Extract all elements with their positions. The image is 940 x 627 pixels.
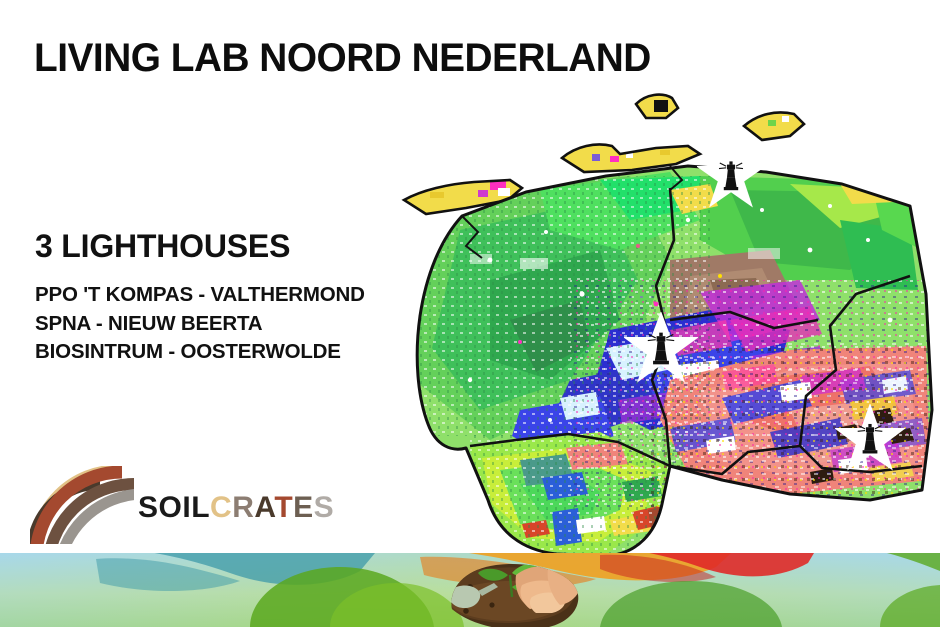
page-title: LIVING LAB NOORD NEDERLAND (34, 36, 651, 81)
footer-graphic (0, 553, 940, 627)
footer-banner: EU MISSIONS SOIL DEAL FOR EUROPE Funded … (0, 553, 940, 627)
logo-letter-0: S (138, 491, 159, 524)
lighthouses-heading: 3 LIGHTHOUSES (35, 228, 290, 265)
logo-letter-6: A (254, 491, 274, 524)
lighthouse-star-marker[interactable] (697, 143, 765, 216)
lighthouses-list: PPO 'T KOMPAS - VALTHERMOND SPNA - NIEUW… (35, 281, 365, 367)
list-item: BIOSINTRUM - OOSTERWOLDE (35, 338, 365, 367)
soilcrates-logo: SOILCRATES (30, 466, 330, 544)
soilcrates-wordmark: SOILCRATES (138, 491, 334, 525)
logo-letter-5: R (232, 491, 254, 524)
logo-letter-1: O (159, 491, 183, 524)
logo-letter-7: T (274, 491, 293, 524)
logo-letter-8: E (293, 491, 314, 524)
soil-layers-arc-icon (30, 466, 134, 544)
logo-letter-9: S (314, 491, 335, 524)
lighthouse-star-marker[interactable] (624, 312, 698, 391)
logo-letter-4: C (210, 491, 232, 524)
logo-letter-3: L (191, 491, 210, 524)
list-item: SPNA - NIEUW BEERTA (35, 310, 365, 339)
soil-map (370, 80, 940, 558)
logo-letter-2: I (182, 491, 191, 524)
list-item: PPO 'T KOMPAS - VALTHERMOND (35, 281, 365, 310)
lighthouse-star-marker[interactable] (835, 404, 905, 479)
